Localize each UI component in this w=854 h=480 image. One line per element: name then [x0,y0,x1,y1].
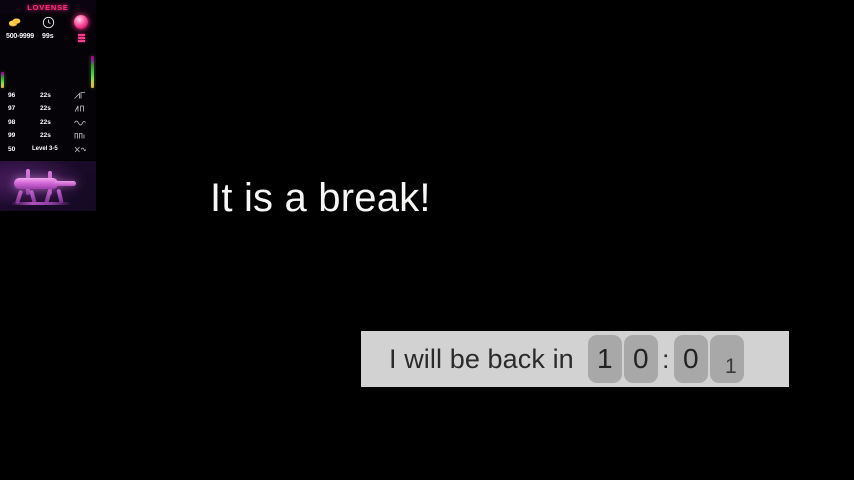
tip-duration: 22s [40,132,51,139]
list-item[interactable]: 96 22s [0,89,96,102]
countdown-digit-ones-seconds: 1 [710,335,744,383]
lovense-tip-menu-widget[interactable]: LOVENSE 500-9999 99s [0,0,96,211]
lovense-brand-label: LOVENSE [27,3,68,12]
tip-duration: 22s [40,119,51,126]
profile-avatar-icon[interactable] [74,15,88,29]
tip-amount: 96 [8,92,15,99]
tip-duration: 22s [40,105,51,112]
tip-amount: 99 [8,132,15,139]
countdown-digit-value: 0 [674,335,708,383]
tip-amount: 98 [8,119,15,126]
tip-pattern-list: 96 22s 97 22s 98 22s [0,88,96,158]
countdown-digit-value: 0 [624,335,658,383]
list-item[interactable]: 50 Level 3-5 [0,143,96,156]
vibration-level-bar-right [91,56,94,88]
widget-icon-row [0,14,96,32]
tip-level-label: Level 3-5 [32,146,58,152]
square-wave-icon [74,131,86,140]
countdown-banner: I will be back in 1 0 : 0 1 [361,331,789,387]
lovense-logo-bar: LOVENSE [0,0,96,14]
list-item[interactable]: 97 22s [0,102,96,115]
countdown-digit-ones-minutes: 0 [624,335,658,383]
break-headline-text: It is a break! [210,176,431,221]
list-item[interactable]: 98 22s [0,116,96,129]
countdown-label: I will be back in [389,344,574,375]
countdown-digit-value: 1 [714,351,744,383]
stream-video-canvas: LOVENSE 500-9999 99s [0,0,854,480]
widget-stats-row: 500-9999 99s [0,32,96,46]
sine-wave-icon [74,118,86,127]
tip-duration: 22s [40,92,51,99]
thumbnail-shape [14,178,58,189]
countdown-clock: 1 0 : 0 1 [588,335,746,383]
countdown-digit-value: 1 [588,335,622,383]
vibration-level-bar-left [1,72,4,88]
tip-amount: 50 [8,146,15,153]
coins-icon [8,17,21,28]
clock-icon [42,16,55,29]
tip-duration-label: 99s [42,33,54,40]
tip-range-label: 500-9999 [6,33,34,40]
tip-amount: 97 [8,105,15,112]
countdown-separator: : [660,344,672,375]
thumbnail-shape [54,181,76,186]
hamburger-menu-icon[interactable] [78,34,85,43]
toy-product-thumbnail[interactable] [0,160,96,211]
list-item[interactable]: 99 22s [0,129,96,142]
countdown-digit-tens-seconds: 0 [674,335,708,383]
countdown-digit-tens-minutes: 1 [588,335,622,383]
thumbnail-shape [12,202,70,205]
ramp-up-wave-icon [74,91,86,100]
vibration-meter-group [0,46,96,88]
random-wave-icon [74,145,86,154]
pulse-wave-icon [74,104,86,113]
